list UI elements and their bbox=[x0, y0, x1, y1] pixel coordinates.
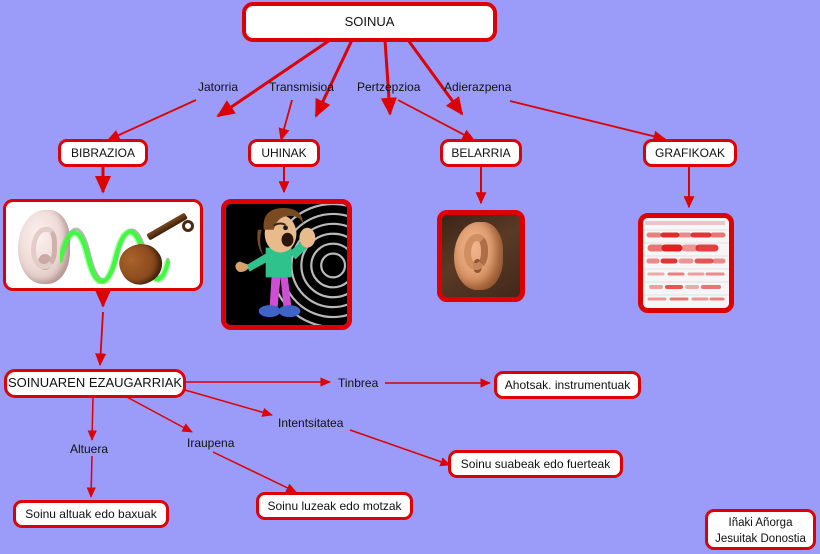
branch-label-text: Jatorria bbox=[198, 80, 238, 94]
signature-institution: Jesuitak Donostia bbox=[708, 532, 813, 548]
result-node-soinu-altuak-edo-baxuak[interactable]: Soinu altuak edo baxuak bbox=[13, 500, 169, 528]
branch-label-pertzepzioa: Pertzepzioa bbox=[357, 80, 420, 94]
waves-image[interactable] bbox=[221, 199, 352, 330]
root-node-soinua[interactable]: SOINUA bbox=[242, 2, 497, 42]
concept-map-canvas: SOINUA Jatorria Transmisioa Pertzepzioa … bbox=[0, 0, 820, 554]
shouting-person-soundwaves-icon bbox=[226, 204, 347, 325]
result-node-label: Soinu suabeak edo fuerteak bbox=[461, 457, 610, 472]
category-node-label: BELARRIA bbox=[451, 146, 510, 161]
graph-image-content bbox=[643, 218, 729, 308]
properties-node-label: SOINUAREN EZAUGARRIAK bbox=[8, 375, 182, 391]
sound-spectrogram-icon bbox=[643, 218, 729, 308]
result-node-label: Ahotsak. instrumentuak bbox=[505, 378, 630, 393]
signature-box: Iñaki Añorga Jesuitak Donostia bbox=[705, 509, 816, 550]
category-node-bibrazioa[interactable]: BIBRAZIOA bbox=[58, 139, 148, 167]
category-node-label: GRAFIKOAK bbox=[655, 146, 725, 161]
property-label-altuera: Altuera bbox=[70, 442, 108, 456]
human-ear-photo-icon bbox=[454, 222, 502, 291]
ear-image[interactable] bbox=[437, 210, 525, 302]
root-node-label: SOINUA bbox=[345, 14, 395, 30]
branch-label-transmisioa: Transmisioa bbox=[269, 80, 334, 94]
result-node-soinu-luzeak-edo-motzak[interactable]: Soinu luzeak edo motzak bbox=[256, 492, 413, 520]
category-node-belarria[interactable]: BELARRIA bbox=[440, 139, 522, 167]
property-label-text: Tinbrea bbox=[338, 376, 378, 390]
branch-label-jatorria: Jatorria bbox=[198, 80, 238, 94]
property-label-text: Iraupena bbox=[187, 436, 234, 450]
signature-author: Iñaki Añorga bbox=[708, 516, 813, 532]
ear-image-content bbox=[442, 215, 520, 297]
category-node-uhinak[interactable]: UHINAK bbox=[248, 139, 320, 167]
branch-label-text: Adierazpena bbox=[444, 80, 511, 94]
category-node-grafikoak[interactable]: GRAFIKOAK bbox=[643, 139, 737, 167]
property-label-intentsitatea: Intentsitatea bbox=[278, 416, 343, 430]
violin-icon bbox=[118, 224, 196, 286]
vibration-image[interactable] bbox=[3, 199, 203, 291]
result-node-label: Soinu luzeak edo motzak bbox=[267, 499, 401, 514]
property-label-tinbrea: Tinbrea bbox=[338, 376, 378, 390]
category-node-label: UHINAK bbox=[261, 146, 306, 161]
result-node-ahotsak-instrumentuak[interactable]: Ahotsak. instrumentuak bbox=[494, 371, 641, 399]
branch-label-text: Pertzepzioa bbox=[357, 80, 420, 94]
category-node-label: BIBRAZIOA bbox=[71, 146, 135, 161]
property-label-iraupena: Iraupena bbox=[187, 436, 234, 450]
property-label-text: Intentsitatea bbox=[278, 416, 343, 430]
branch-label-adierazpena: Adierazpena bbox=[444, 80, 511, 94]
vibration-image-content bbox=[6, 202, 200, 288]
property-label-text: Altuera bbox=[70, 442, 108, 456]
waves-image-content bbox=[226, 204, 347, 325]
graph-image[interactable] bbox=[638, 213, 734, 313]
result-node-label: Soinu altuak edo baxuak bbox=[25, 507, 156, 522]
properties-node-soinuaren-ezaugarriak[interactable]: SOINUAREN EZAUGARRIAK bbox=[4, 369, 186, 398]
result-node-soinu-suabeak-edo-fuerteak[interactable]: Soinu suabeak edo fuerteak bbox=[448, 450, 623, 478]
branch-label-text: Transmisioa bbox=[269, 80, 334, 94]
